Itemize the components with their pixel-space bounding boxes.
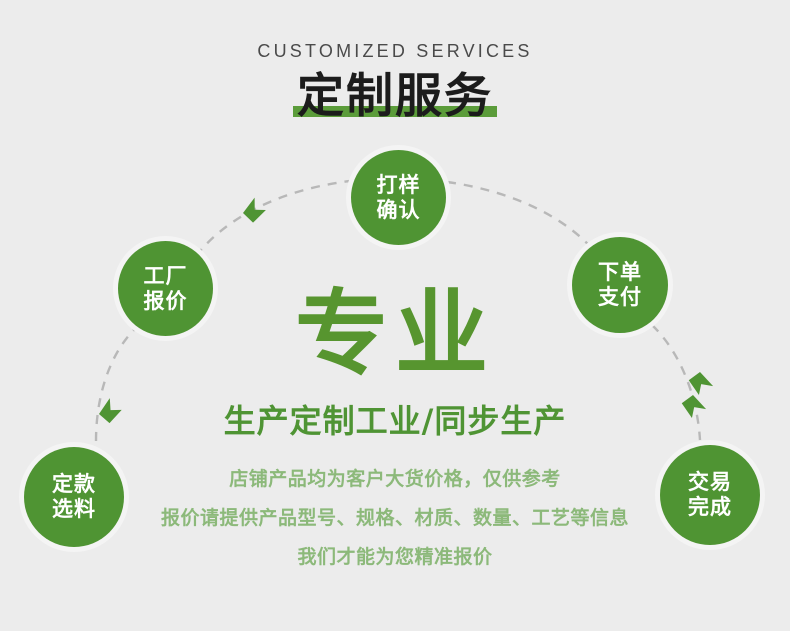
flow-node-transaction-complete[interactable]: 交易 完成 (660, 445, 760, 545)
flow-node-line1: 工厂 (144, 264, 188, 289)
center-note-1: 店铺产品均为客户大货价格，仅供参考 (0, 470, 790, 489)
page-title-inner: 定制服务 (293, 73, 497, 120)
flow-node-line2: 确认 (377, 198, 421, 223)
center-headline: 专业 (0, 288, 790, 381)
arc-top-to-right (447, 182, 596, 253)
center-note-3: 我们才能为您精准报价 (0, 548, 790, 567)
customized-services-banner: CUSTOMIZED SERVICES 定制服务 (0, 0, 790, 631)
center-subheadline: 生产定制工业/同步生产 (0, 405, 790, 437)
center-note-2: 报价请提供产品型号、规格、材质、数量、工艺等信息 (0, 509, 790, 528)
flow-node-style-material[interactable]: 定款 选料 (24, 447, 124, 547)
arc-left-to-top (196, 181, 350, 256)
arrowhead-icon-top-left (239, 196, 268, 225)
flow-node-sample-confirm[interactable]: 打样 确认 (351, 150, 446, 245)
flow-node-line1: 打样 (377, 173, 421, 198)
flow-node-line1: 下单 (598, 260, 642, 285)
page-title-text: 定制服务 (297, 69, 493, 124)
